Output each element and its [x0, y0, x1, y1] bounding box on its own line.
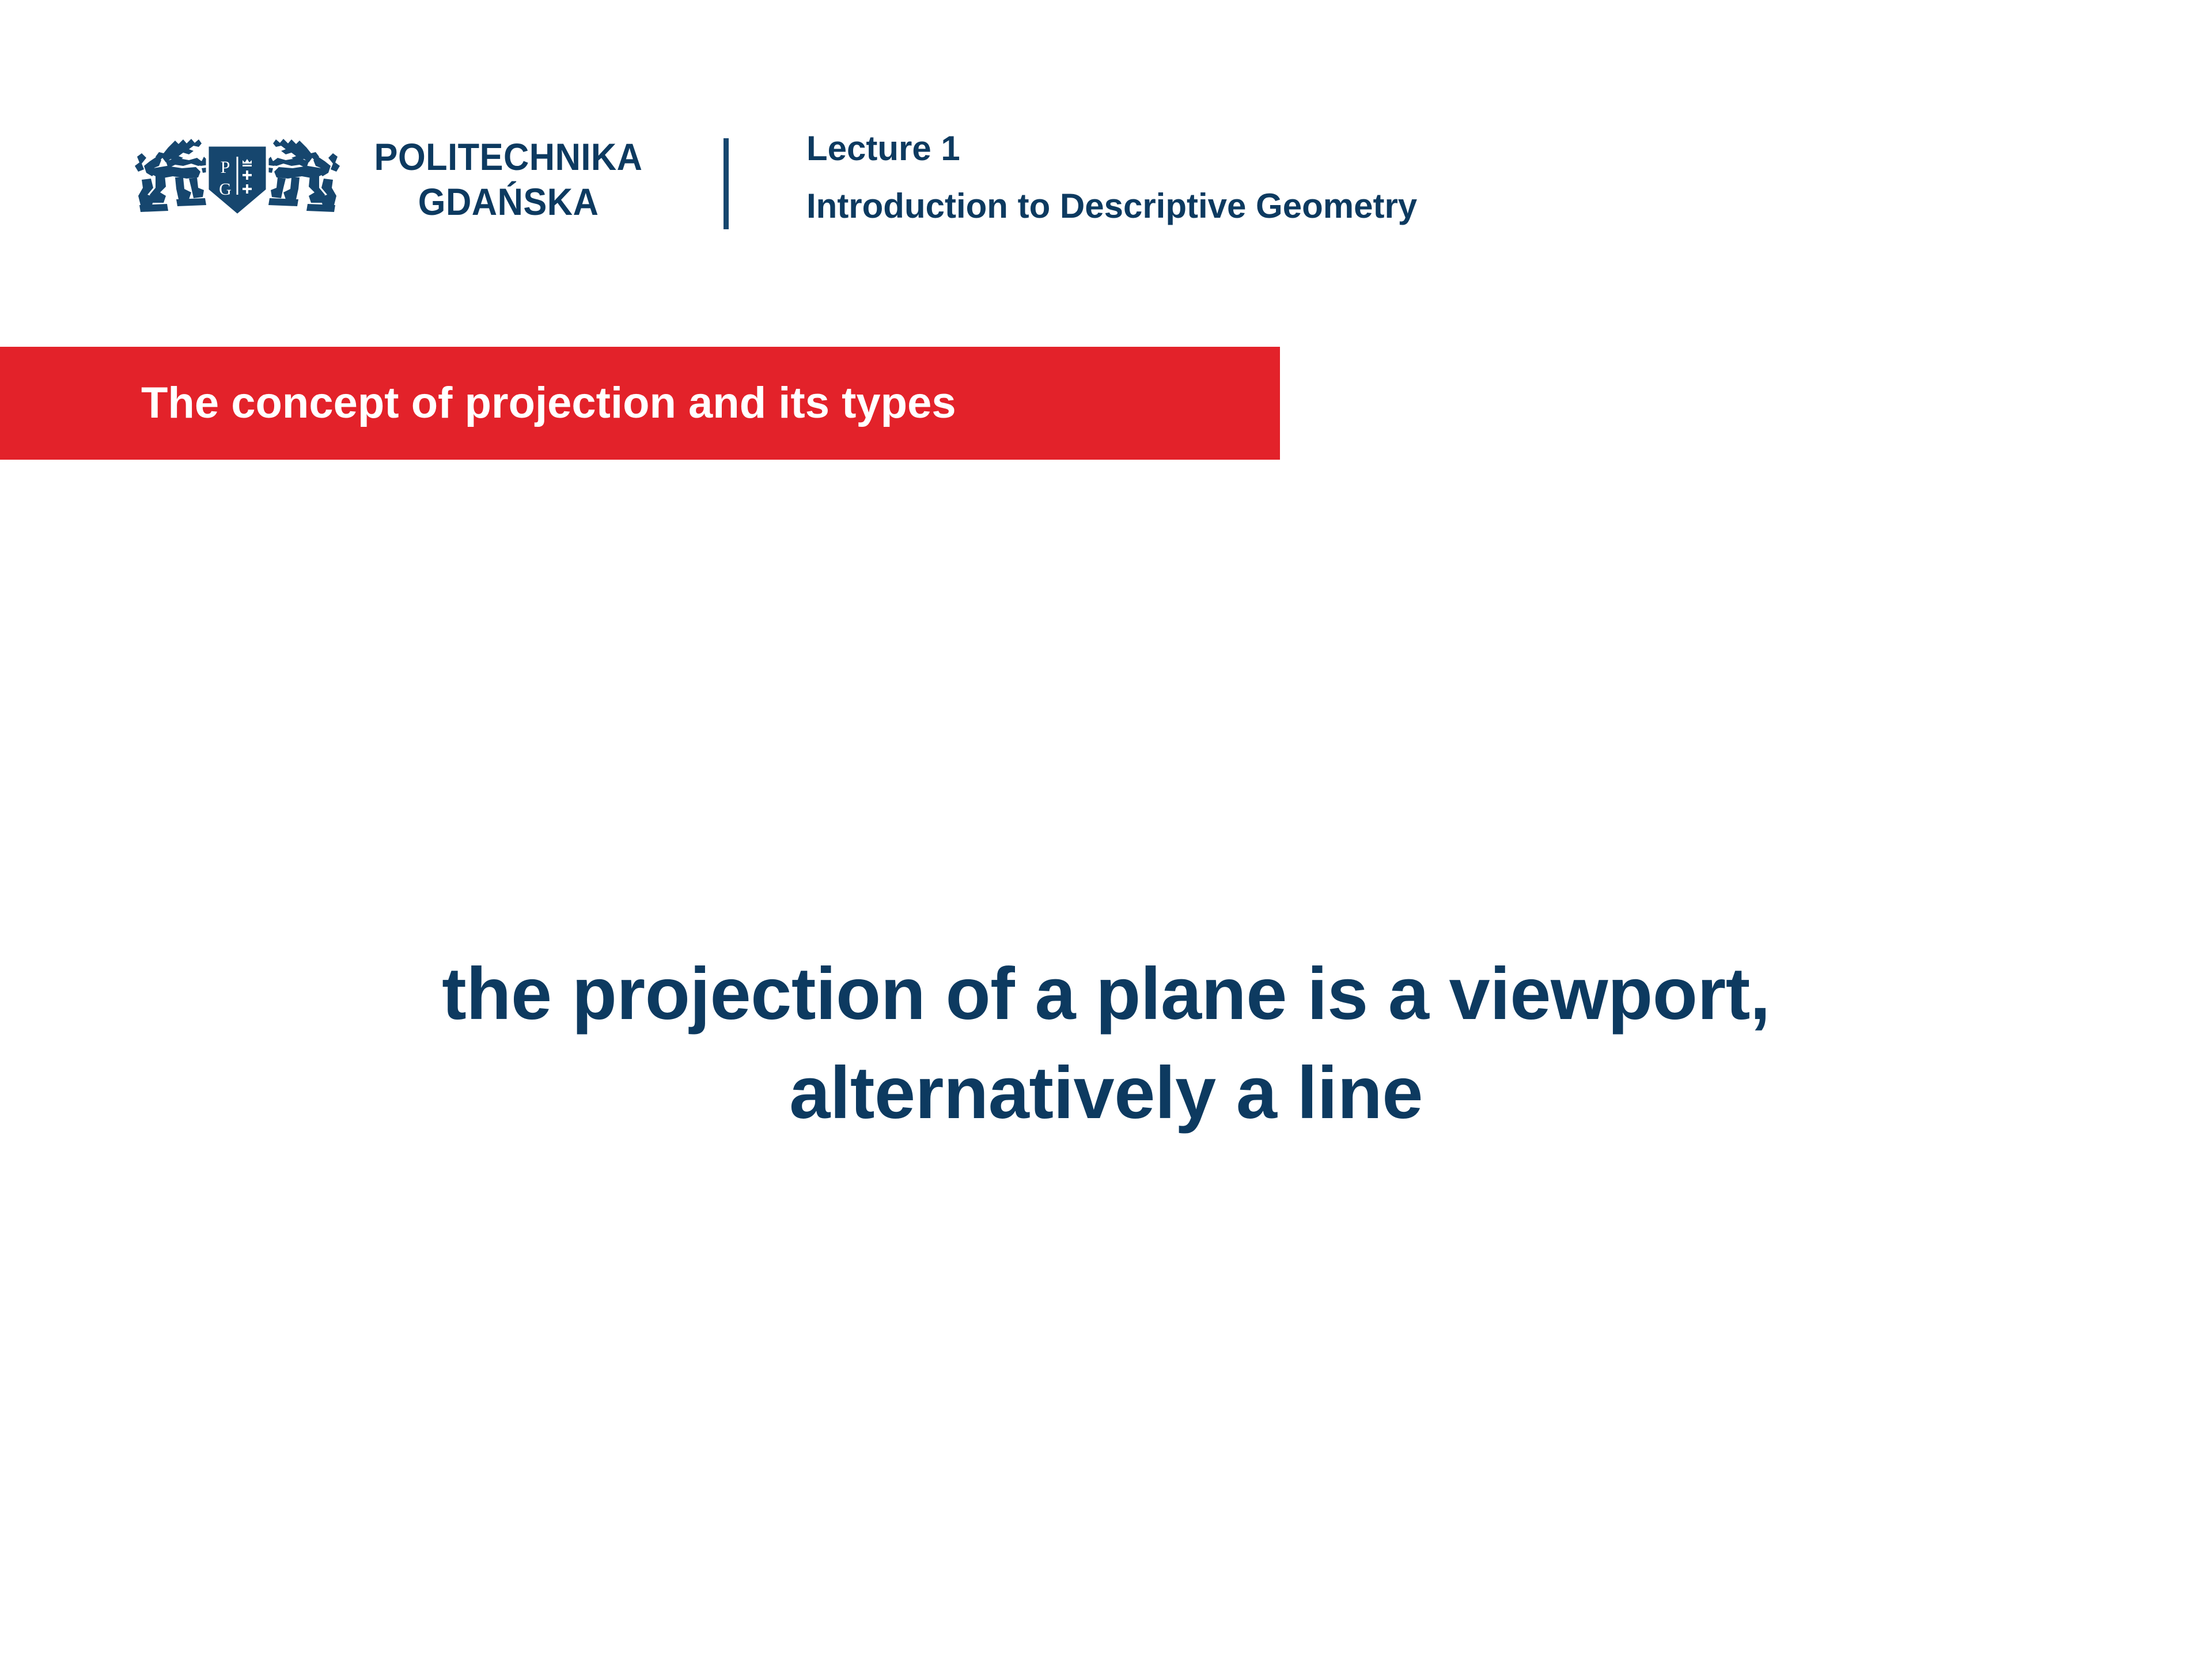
- university-wordmark: POLITECHNIKA GDAŃSKA: [364, 138, 653, 221]
- wordmark-line-2: GDAŃSKA: [418, 183, 599, 221]
- body-line-1: the projection of a plane is a viewport,: [0, 945, 2212, 1044]
- slide-header: P G POLITECHNIKA GDAŃSKA: [0, 0, 2212, 323]
- header-divider: [724, 138, 729, 229]
- slide-body-text: the projection of a plane is a viewport,…: [0, 945, 2212, 1142]
- section-banner-title: The concept of projection and its types: [141, 381, 956, 425]
- lecture-subject: Introduction to Descriptive Geometry: [806, 189, 1417, 224]
- body-line-2: alternatively a line: [0, 1044, 2212, 1143]
- lecture-number: Lecture 1: [806, 131, 1417, 166]
- section-banner: The concept of projection and its types: [0, 347, 1280, 460]
- wordmark-line-1: POLITECHNIKA: [374, 138, 643, 176]
- lecture-title-block: Lecture 1 Introduction to Descriptive Ge…: [806, 131, 1417, 224]
- university-branding: P G POLITECHNIKA GDAŃSKA: [134, 128, 653, 230]
- slide-canvas: P G POLITECHNIKA GDAŃSKA: [0, 0, 2212, 1659]
- shield-letter-g: G: [219, 180, 232, 199]
- politechnika-gdanska-crest-icon: P G: [134, 128, 341, 230]
- shield-letter-p: P: [221, 158, 230, 177]
